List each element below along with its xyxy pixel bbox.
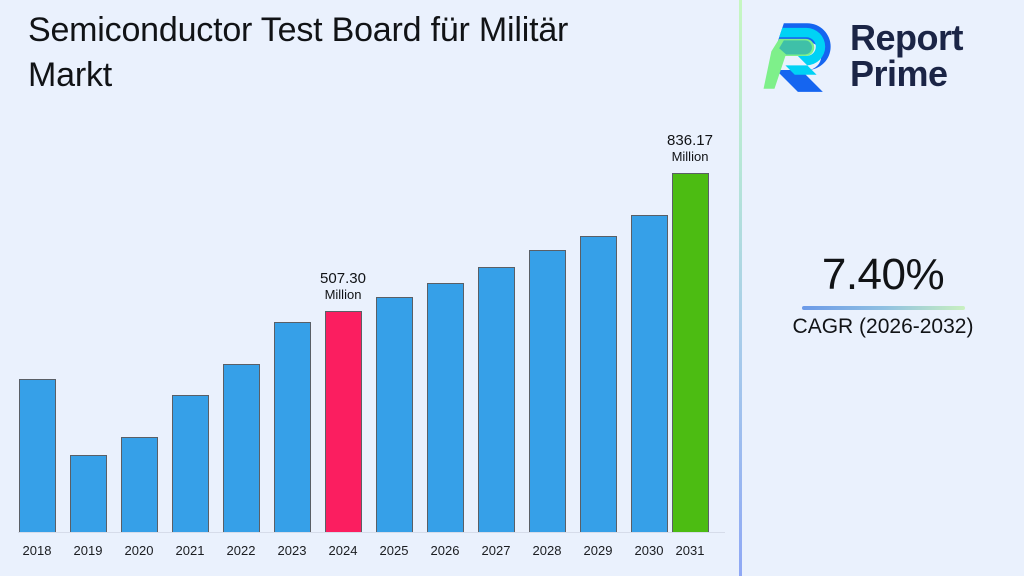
bar-2021 — [172, 395, 209, 533]
bar-value-unit: Million — [288, 288, 398, 303]
bar-2027 — [478, 267, 515, 533]
bar-2019 — [70, 455, 107, 533]
bar-2030 — [631, 215, 668, 533]
x-axis-line — [18, 532, 725, 533]
bar-value-number: 507.30 — [320, 270, 366, 287]
brand-logo-text: Report Prime — [850, 20, 963, 92]
x-tick-2031: 2031 — [660, 543, 720, 558]
bar-2025 — [376, 297, 413, 533]
bar-2022 — [223, 364, 260, 533]
brand-panel: Report Prime 7.40% CAGR (2026-2032) — [742, 0, 1024, 576]
cagr-value: 7.40% — [742, 252, 1024, 298]
bar-2020 — [121, 437, 158, 533]
bar-value-label-2024: 507.30Million — [288, 271, 398, 302]
bar-2023 — [274, 322, 311, 533]
brand-logo: Report Prime — [762, 8, 1012, 104]
cagr-label: CAGR (2026-2032) — [742, 314, 1024, 339]
bar-2028 — [529, 250, 566, 533]
bar-2026 — [427, 283, 464, 533]
bar-2031 — [672, 173, 709, 533]
brand-logo-line1: Report — [850, 20, 963, 56]
bar-value-unit: Million — [635, 150, 745, 165]
bar-2029 — [580, 236, 617, 533]
bar-chart: 507.30Million836.17Million 2018201920202… — [0, 0, 740, 576]
bar-value-label-2031: 836.17Million — [635, 133, 745, 164]
report-prime-logo-mark-icon — [762, 17, 840, 95]
cagr-block: 7.40% CAGR (2026-2032) — [742, 252, 1024, 339]
chart-panel: Semiconductor Test Board für Militär Mar… — [0, 0, 740, 576]
brand-logo-line2: Prime — [850, 56, 963, 92]
bar-2024 — [325, 311, 362, 533]
bar-value-number: 836.17 — [667, 132, 713, 149]
bar-2018 — [19, 379, 56, 533]
cagr-divider-rule — [802, 306, 965, 310]
